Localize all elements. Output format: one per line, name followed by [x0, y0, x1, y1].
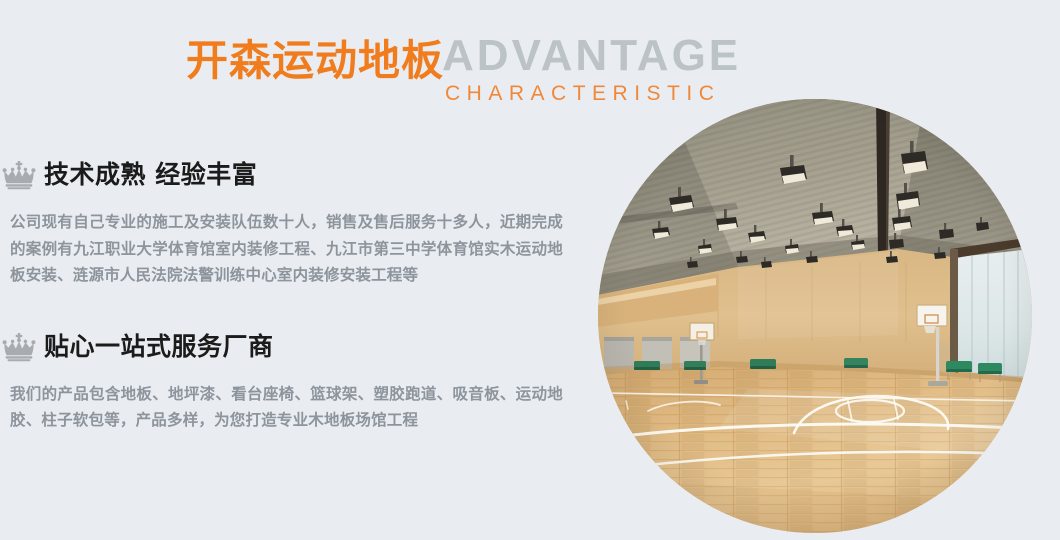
feature-item: 贴心一站式服务厂商 我们的产品包含地板、地坪漆、看台座椅、篮球架、塑胶跑道、吸音…	[0, 327, 575, 434]
advantage-banner: 开森运动地板 ADVANTAGE CHARACTERISTIC	[0, 0, 1060, 540]
feature-description: 公司现有自己专业的施工及安装队伍数十人，销售及售后服务十多人，近期完成的案例有九…	[0, 209, 575, 289]
feature-heading: 技术成熟 经验丰富	[0, 155, 575, 195]
basketball-gymnasium-photo	[598, 99, 1032, 533]
feature-list: 技术成熟 经验丰富 公司现有自己专业的施工及安装队伍数十人，销售及售后服务十多人…	[0, 155, 575, 434]
page-title-cn: 开森运动地板	[186, 35, 444, 87]
feature-description: 我们的产品包含地板、地坪漆、看台座椅、篮球架、塑胶跑道、吸音板、运动地胶、柱子软…	[0, 381, 575, 434]
feature-item: 技术成熟 经验丰富 公司现有自己专业的施工及安装队伍数十人，销售及售后服务十多人…	[0, 155, 575, 289]
feature-heading: 贴心一站式服务厂商	[0, 327, 575, 367]
page-title-en-group: ADVANTAGE CHARACTERISTIC	[442, 33, 741, 107]
crown-icon	[2, 160, 36, 190]
feature-title: 技术成熟 经验丰富	[44, 160, 257, 190]
crown-icon	[2, 332, 36, 362]
feature-title: 贴心一站式服务厂商	[44, 332, 274, 362]
page-title-en-main: ADVANTAGE	[442, 33, 741, 79]
gym-illustration	[598, 99, 1032, 533]
